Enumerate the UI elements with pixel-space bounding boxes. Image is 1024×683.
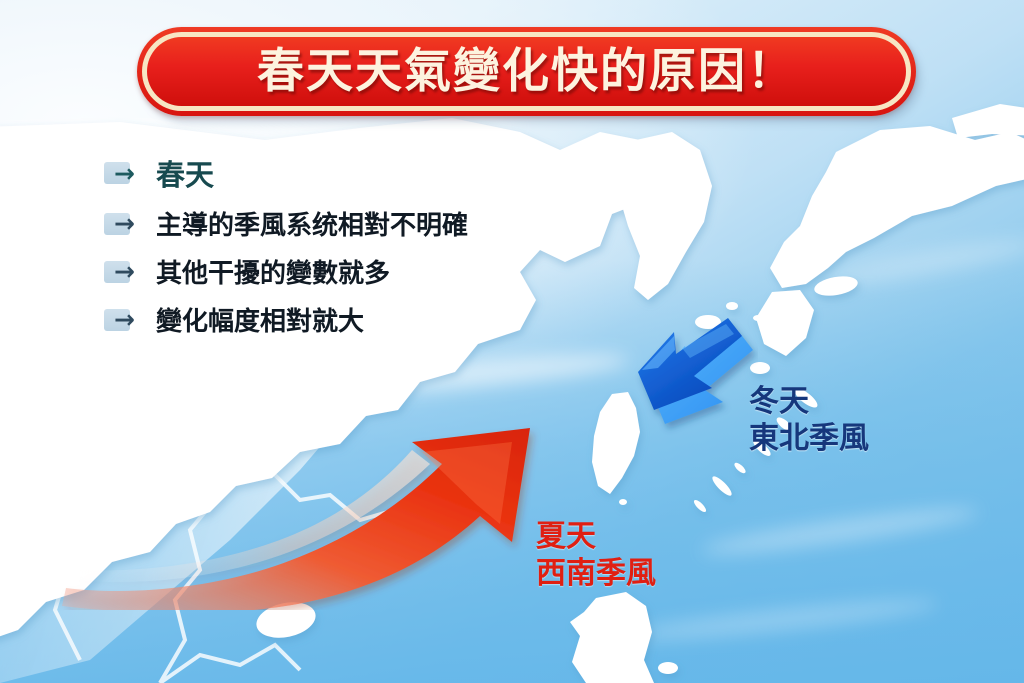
summer-label-line2: 西南季風 — [536, 556, 656, 593]
arrow-marker-icon: → — [104, 209, 156, 239]
list-item: → 其他干擾的變數就多 — [104, 253, 544, 290]
arrow-marker-icon: → — [104, 158, 156, 188]
title-banner: 春天天氣變化快的原因！ — [137, 27, 916, 116]
list-item-label: 變化幅度相對就大 — [156, 301, 364, 338]
northeast-monsoon-arrow — [628, 318, 758, 438]
list-item-label: 主導的季風系统相對不明確 — [156, 205, 468, 242]
winter-label-line2: 東北季風 — [749, 421, 869, 458]
list-item: → 變化幅度相對就大 — [104, 301, 544, 338]
summer-monsoon-label: 夏天 西南季風 — [536, 519, 656, 592]
page-title: 春天天氣變化快的原因！ — [257, 48, 796, 95]
winter-monsoon-label: 冬天 東北季風 — [749, 384, 869, 457]
arrow-marker-icon: → — [104, 305, 156, 335]
southwest-monsoon-arrow — [60, 420, 600, 610]
arrow-marker-icon: → — [104, 257, 156, 287]
list-item: → 主導的季風系统相對不明確 — [104, 205, 544, 242]
summer-label-line1: 夏天 — [536, 519, 656, 556]
winter-label-line1: 冬天 — [749, 384, 869, 421]
list-item: → 春天 — [104, 152, 544, 194]
list-item-label: 春天 — [156, 152, 214, 194]
bullet-list: → 春天 → 主導的季風系统相對不明確 → 其他干擾的變數就多 → 變化幅度相對… — [104, 152, 544, 349]
list-item-label: 其他干擾的變數就多 — [156, 253, 390, 290]
infographic-canvas: 春天天氣變化快的原因！ → 春天 → 主導的季風系统相對不明確 → 其他干擾的變… — [0, 0, 1024, 683]
title-inner-fill: 春天天氣變化快的原因！ — [147, 37, 906, 106]
